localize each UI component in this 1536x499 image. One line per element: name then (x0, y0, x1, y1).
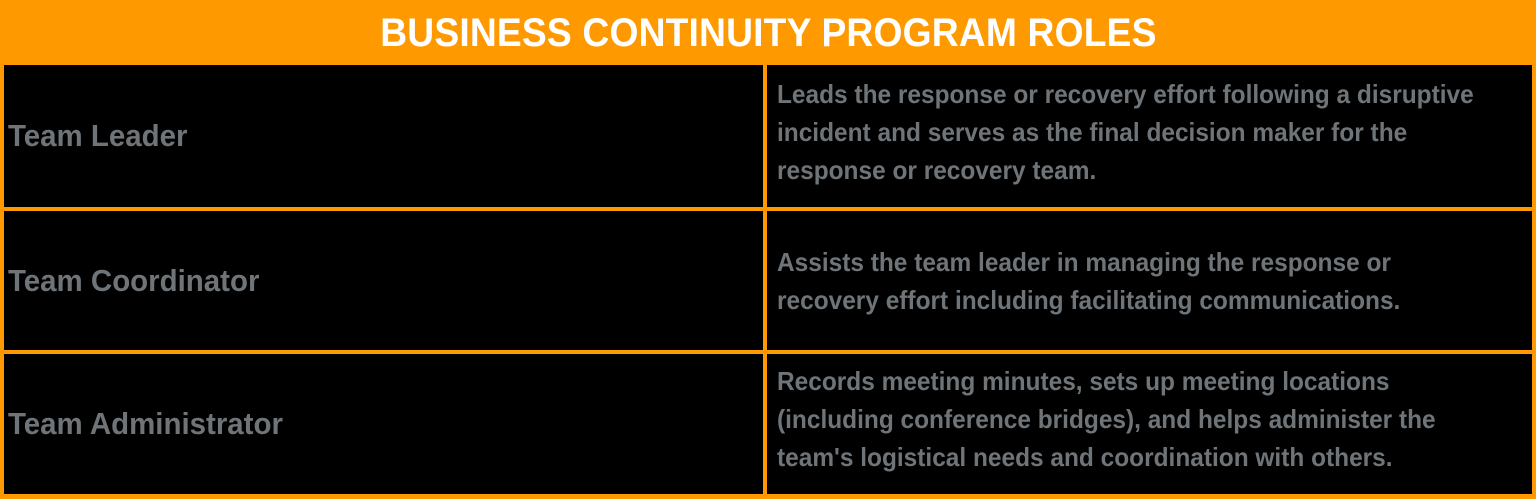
role-name: Team Leader (8, 119, 188, 153)
role-cell: Team Leader (4, 65, 767, 207)
table-body: Team Leader Leads the response or recove… (0, 65, 1536, 499)
business-continuity-roles-table: BUSINESS CONTINUITY PROGRAM ROLES Team L… (0, 0, 1536, 499)
table-row: Team Administrator Records meeting minut… (4, 354, 1532, 494)
role-name: Team Coordinator (8, 264, 259, 298)
table-row: Team Leader Leads the response or recove… (4, 65, 1532, 211)
table-header-band: BUSINESS CONTINUITY PROGRAM ROLES (0, 0, 1536, 65)
role-description: Records meeting minutes, sets up meeting… (777, 362, 1483, 476)
description-cell: Assists the team leader in managing the … (767, 211, 1532, 350)
role-description: Assists the team leader in managing the … (777, 243, 1483, 319)
description-cell: Leads the response or recovery effort fo… (767, 65, 1532, 207)
description-cell: Records meeting minutes, sets up meeting… (767, 354, 1532, 494)
role-name: Team Administrator (8, 407, 283, 441)
table-row: Team Coordinator Assists the team leader… (4, 211, 1532, 354)
role-description: Leads the response or recovery effort fo… (777, 75, 1483, 189)
role-cell: Team Coordinator (4, 211, 767, 350)
role-cell: Team Administrator (4, 354, 767, 494)
page-title: BUSINESS CONTINUITY PROGRAM ROLES (380, 11, 1156, 55)
